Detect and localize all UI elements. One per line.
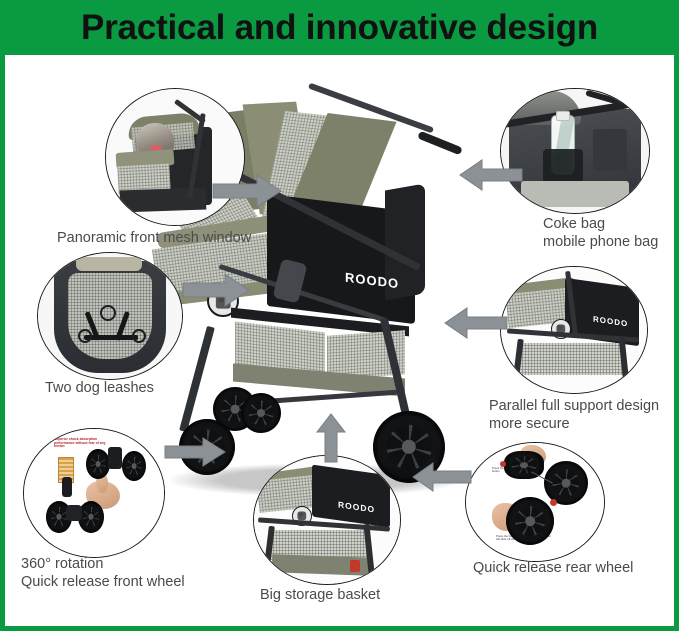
header-banner: Practical and innovative design	[0, 0, 679, 55]
inset-big-storage-basket: ROODO	[253, 455, 401, 585]
inset-coke-bag	[500, 88, 650, 214]
page-title: Practical and innovative design	[81, 10, 598, 45]
infographic-page: Practical and innovative design ROODO	[0, 0, 679, 631]
inset-photo-parallel-support: ROODO	[501, 267, 647, 393]
leg-front	[179, 326, 215, 432]
wheel-front-small-b	[241, 393, 281, 433]
arrow-rear-wheel	[413, 462, 471, 492]
caption-coke-bag: Coke bag mobile phone bag	[543, 216, 679, 251]
caption-big-storage-basket: Big storage basket	[260, 587, 450, 605]
arrow-two-dog-leashes	[183, 272, 251, 308]
arrow-panoramic	[213, 172, 283, 210]
caption-panoramic-front-mesh-window: Panoramic front mesh window	[57, 230, 297, 248]
arrow-front-wheel-360	[165, 436, 227, 468]
inset-front-wheel-360: Superior shock absorption performance wi…	[23, 428, 165, 558]
caption-parallel-full-support: Parallel full support design more secure	[489, 398, 679, 433]
inset-photo-storage-basket: ROODO	[254, 456, 400, 584]
caption-quick-release-rear-wheel: Quick release rear wheel	[473, 560, 679, 578]
inset-photo-leashes	[38, 253, 182, 379]
arrow-parallel-support	[445, 306, 507, 340]
inset-quick-release-rear-wheel: Press the release button Press the butto…	[465, 442, 605, 562]
arrow-storage-basket	[315, 414, 347, 462]
inset-photo-front-wheel: Superior shock absorption performance wi…	[24, 429, 164, 557]
inset-parallel-full-support: ROODO	[500, 266, 648, 394]
inset-note-front-wheel: Superior shock absorption performance wi…	[54, 438, 114, 449]
inset-photo-rear-wheel: Press the release button Press the butto…	[466, 443, 604, 561]
inset-photo-coke-bag	[501, 89, 649, 213]
caption-front-wheel-360: 360° rotation Quick release front wheel	[21, 556, 241, 591]
inset-two-dog-leashes	[37, 252, 183, 380]
arrow-coke-bag	[460, 158, 522, 192]
caption-two-dog-leashes: Two dog leashes	[45, 380, 245, 398]
handle-grip	[417, 131, 463, 156]
